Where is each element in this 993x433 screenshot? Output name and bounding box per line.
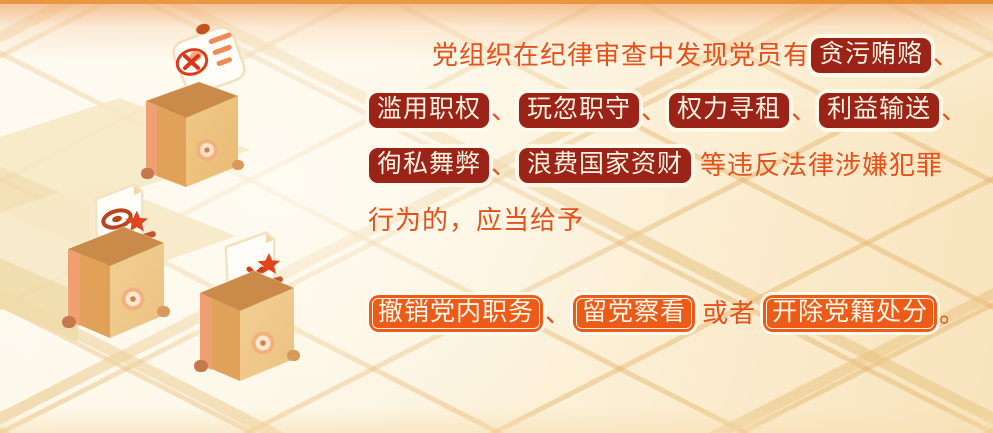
chip-kaichudangjichufen[interactable]: 开除党籍处分 bbox=[763, 295, 937, 332]
separator-dun-2: 、 bbox=[490, 98, 518, 124]
conjunction-or-text: 或者 bbox=[702, 301, 756, 327]
separator-dun-6: 、 bbox=[490, 153, 518, 179]
separator-dun-4: 、 bbox=[790, 98, 818, 124]
bottom-fade-overlay bbox=[0, 407, 993, 433]
line-spacer bbox=[368, 248, 968, 286]
chip-xunsiwubi[interactable]: 徇私舞弊 bbox=[369, 148, 489, 183]
clause-action-text: 行为的，应当给予 bbox=[368, 208, 584, 234]
separator-dun-7: 、 bbox=[544, 301, 572, 327]
intro-text: 党组织在纪律审查中发现党员有 bbox=[432, 43, 810, 69]
separator-dun-1: 、 bbox=[932, 43, 960, 69]
chip-quanlixunzu[interactable]: 权力寻租 bbox=[669, 93, 789, 128]
banner-root: 党组织在纪律审查中发现党员有 贪污贿赂 、 滥用职权 、 玩忽职守 、 权力寻租… bbox=[0, 0, 993, 433]
text-line-2: 滥用职权 、 玩忽职守 、 权力寻租 、 利益输送 、 bbox=[368, 83, 968, 138]
text-content: 党组织在纪律审查中发现党员有 贪污贿赂 、 滥用职权 、 玩忽职守 、 权力寻租… bbox=[368, 28, 968, 341]
chip-liyishusong[interactable]: 利益输送 bbox=[819, 93, 939, 128]
chip-tanwuhuilu[interactable]: 贪污贿赂 bbox=[811, 38, 931, 73]
chip-wanhuzhishou[interactable]: 玩忽职守 bbox=[519, 93, 639, 128]
text-line-4: 行为的，应当给予 bbox=[368, 193, 968, 248]
chip-chexiaodangneizhiwu[interactable]: 撤销党内职务 bbox=[369, 295, 543, 332]
chip-liudangchakan[interactable]: 留党察看 bbox=[573, 295, 695, 332]
separator-dun-3: 、 bbox=[640, 98, 668, 124]
period-text: 。 bbox=[938, 301, 966, 327]
text-line-5: 撤销党内职务 、 留党察看 或者 开除党籍处分 。 bbox=[368, 286, 968, 341]
chip-langfeiguojiazicai[interactable]: 浪费国家资财 bbox=[519, 148, 691, 183]
chip-lanyongzhiquan[interactable]: 滥用职权 bbox=[369, 93, 489, 128]
separator-dun-5: 、 bbox=[940, 98, 968, 124]
tail-crime-text: 等违反法律涉嫌犯罪 bbox=[700, 153, 943, 179]
text-line-3: 徇私舞弊 、 浪费国家资财 等违反法律涉嫌犯罪 bbox=[368, 138, 968, 193]
text-line-1: 党组织在纪律审查中发现党员有 贪污贿赂 、 bbox=[368, 28, 968, 83]
